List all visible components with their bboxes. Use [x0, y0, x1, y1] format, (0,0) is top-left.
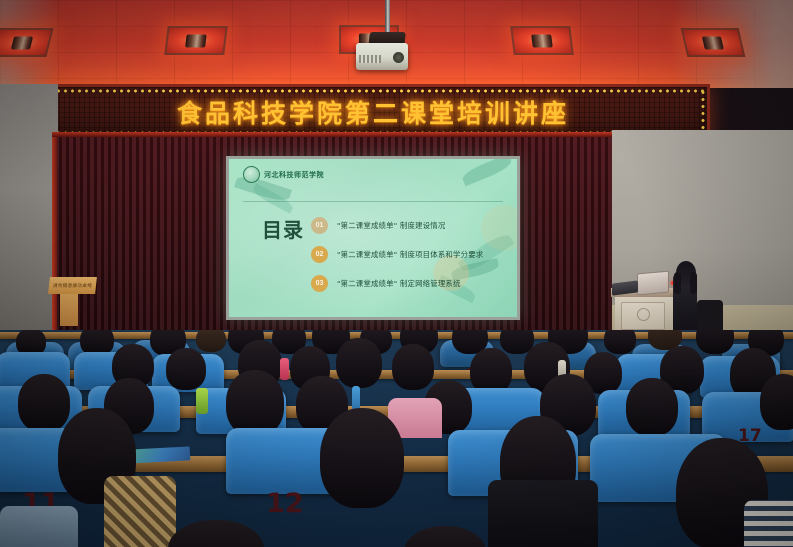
- audience-head: [320, 408, 404, 508]
- audience-head: [226, 370, 284, 436]
- list-item: 03 "第二课堂成绩单" 制定网络管理系统: [311, 269, 501, 298]
- list-item: 01 "第二课堂成绩单" 制度建设情况: [311, 211, 501, 240]
- audience-head: [604, 330, 636, 354]
- ceiling-light: [510, 26, 574, 55]
- slide-divider: [243, 201, 503, 202]
- notice-sign: 请勿随意搬动桌椅: [48, 277, 97, 294]
- notice-sign-text: 请勿随意搬动桌椅: [53, 283, 93, 289]
- curtain-valance: [52, 132, 618, 137]
- left-wall: [0, 84, 58, 344]
- audience-head: [166, 348, 206, 390]
- university-emblem-icon: [243, 166, 260, 183]
- audience-torso: [104, 476, 176, 547]
- toc-number-badge: 02: [311, 246, 328, 263]
- presenter-hair: [690, 272, 697, 294]
- audience-head: [626, 378, 678, 436]
- ceiling-light: [164, 26, 228, 55]
- water-bottle: [280, 358, 289, 380]
- slide-logo-text: 河北科技师范学院: [264, 170, 324, 180]
- toc-item-text: "第二课堂成绩单" 制定网络管理系统: [337, 278, 461, 289]
- lecture-hall-photo: 食品科技学院第二课堂培训讲座 河北科技师范学院 目录: [0, 0, 793, 547]
- audience-head: [760, 374, 793, 430]
- ceiling-light: [681, 28, 746, 57]
- toc-item-text: "第二课堂成绩单" 制度建设情况: [337, 220, 445, 231]
- audience-head: [18, 374, 70, 432]
- water-bottle: [352, 386, 360, 410]
- audience-head: [196, 330, 226, 352]
- ceiling-light: [0, 28, 54, 57]
- water-bottle: [196, 388, 208, 414]
- audience-head: [168, 520, 264, 547]
- lamp-glow: [702, 36, 724, 49]
- audience-torso: [744, 500, 793, 547]
- audience-head: [392, 344, 434, 390]
- audience-torso: [488, 480, 598, 547]
- audience-head: [404, 526, 486, 547]
- curtain-left-edge: [52, 132, 57, 344]
- banner-title-text: 食品科技学院第二课堂培训讲座: [39, 94, 707, 130]
- list-item: 02 "第二课堂成绩单" 制度项目体系和学分要求: [311, 240, 501, 269]
- ceiling: [0, 0, 793, 88]
- lamp-glow: [531, 34, 553, 47]
- slide-content: 河北科技师范学院 目录 01 "第二课堂成绩单" 制度建设情况 02 "第二课堂…: [229, 159, 517, 317]
- audience-head: [336, 338, 382, 388]
- ceiling-projector: [356, 43, 408, 70]
- projection-screen: 河北科技师范学院 目录 01 "第二课堂成绩单" 制度建设情况 02 "第二课堂…: [226, 156, 520, 320]
- projector-lens-icon: [393, 52, 404, 63]
- projector-vent: [359, 55, 381, 63]
- led-border-lights-top: [41, 89, 705, 93]
- audience-seating: 14 15 16 9: [0, 330, 793, 547]
- lamp-glow: [185, 34, 207, 47]
- toc-number-badge: 01: [311, 217, 328, 234]
- slide-logo: 河北科技师范学院: [243, 166, 324, 183]
- toc-number-badge: 03: [311, 275, 328, 292]
- audience-head: [696, 330, 734, 354]
- audience-torso: [0, 506, 78, 547]
- slide-toc-list: 01 "第二课堂成绩单" 制度建设情况 02 "第二课堂成绩单" 制度项目体系和…: [311, 211, 501, 298]
- presenter-hair: [674, 272, 681, 294]
- toc-item-text: "第二课堂成绩单" 制度项目体系和学分要求: [337, 249, 483, 260]
- lectern-monitor: [637, 271, 669, 296]
- seat-number: 12: [266, 488, 304, 519]
- lamp-glow: [11, 36, 33, 49]
- slide-heading: 目录: [259, 219, 307, 241]
- lectern-emblem-icon: [637, 308, 650, 321]
